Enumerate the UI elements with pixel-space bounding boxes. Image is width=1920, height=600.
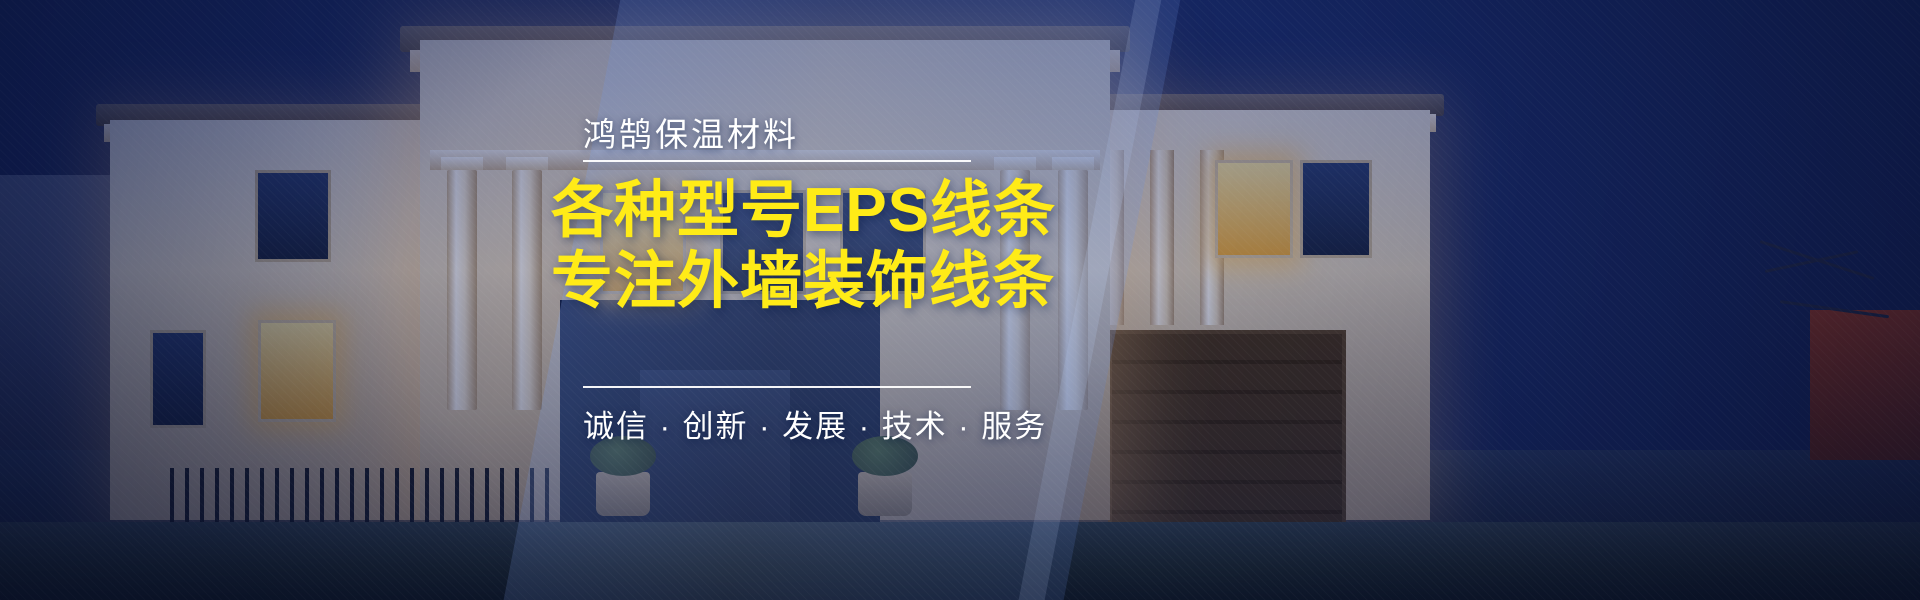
headline-block: 各种型号EPS线条 专注外墙装饰线条 bbox=[551, 180, 1011, 313]
headline-line-1: 各种型号EPS线条 bbox=[551, 180, 1011, 242]
headline-line-2: 专注外墙装饰线条 bbox=[551, 251, 1011, 313]
tagline: 诚信 · 创新 · 发展 · 技术 · 服务 bbox=[583, 401, 1047, 446]
brand-name: 鸿鹄保温材料 bbox=[583, 108, 799, 156]
divider-bottom bbox=[583, 386, 971, 388]
banner-content: 鸿鹄保温材料 各种型号EPS线条 专注外墙装饰线条 诚信 · 创新 · 发展 ·… bbox=[0, 0, 1920, 600]
hero-banner: 鸿鹄保温材料 各种型号EPS线条 专注外墙装饰线条 诚信 · 创新 · 发展 ·… bbox=[0, 0, 1920, 600]
divider-top bbox=[583, 160, 971, 162]
